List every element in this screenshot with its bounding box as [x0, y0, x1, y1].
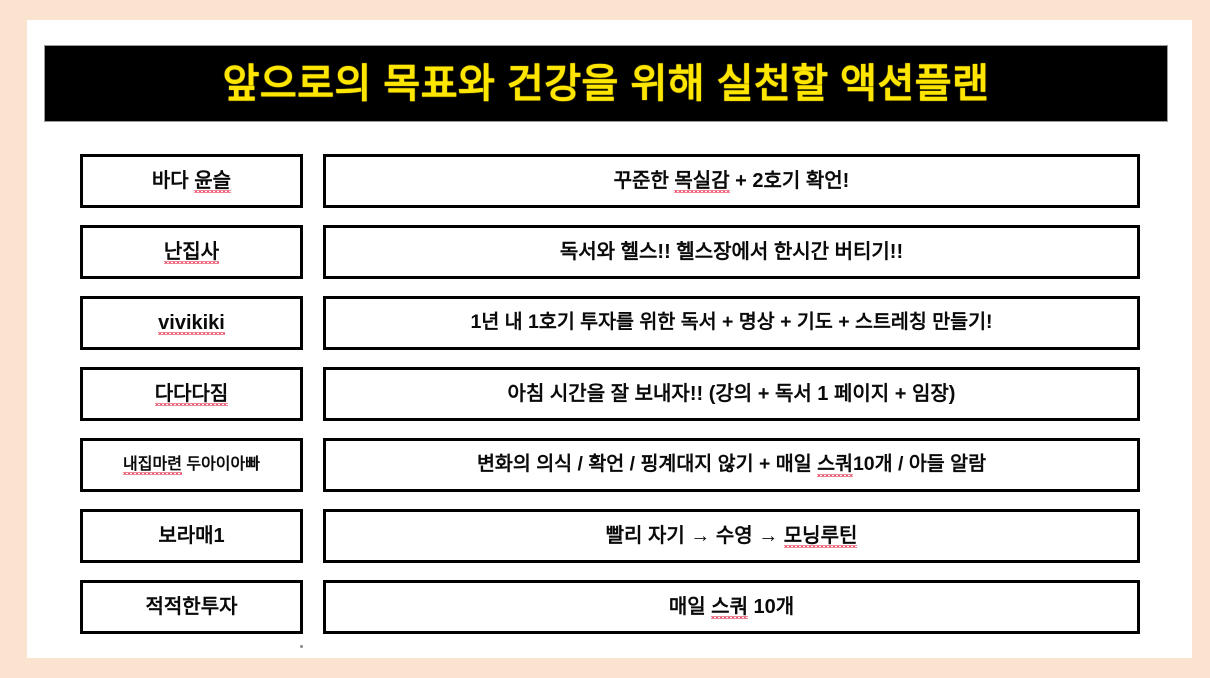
- nickname-text: 보라매1: [158, 525, 224, 547]
- nickname-text: 다다다짐: [155, 383, 229, 405]
- actionplan-cell[interactable]: 꾸준한 목실감 + 2호기 확언!: [323, 154, 1140, 208]
- actionplan-text: 꾸준한 목실감 + 2호기 확언!: [614, 170, 850, 192]
- nickname-text: 난집사: [164, 241, 219, 263]
- actionplan-cell[interactable]: 아침 시간을 잘 보내자!! (강의 + 독서 1 페이지 + 임장): [323, 367, 1140, 421]
- nickname-text: 적적한투자: [146, 596, 238, 618]
- misspelled-word: 윤슬: [194, 170, 231, 192]
- actionplan-cell[interactable]: 빨리 자기 → 수영 → 모닝루틴: [323, 509, 1140, 563]
- table-row: 바다 윤슬 꾸준한 목실감 + 2호기 확언!: [80, 154, 1140, 208]
- nickname-text: 바다 윤슬: [152, 170, 231, 192]
- actionplan-text: 독서와 헬스!! 헬스장에서 한시간 버티기!!: [560, 241, 903, 263]
- actionplan-text: 1년 내 1호기 투자를 위한 독서 + 명상 + 기도 + 스트레칭 만들기!: [470, 312, 992, 333]
- nickname-cell[interactable]: 보라매1: [80, 509, 303, 563]
- actionplan-cell[interactable]: 매일 스쿼 10개: [323, 580, 1140, 634]
- actionplan-text: 변화의 의식 / 확언 / 핑계대지 않기 + 매일 스쿼10개 / 아들 알람: [477, 454, 986, 475]
- actionplan-text: 아침 시간을 잘 보내자!! (강의 + 독서 1 페이지 + 임장): [508, 383, 956, 405]
- slide-canvas: 앞으로의 목표와 건강을 위해 실천할 액션플랜 바다 윤슬 꾸준한 목실감 +…: [27, 20, 1192, 658]
- table-row: 난집사 독서와 헬스!! 헬스장에서 한시간 버티기!!: [80, 225, 1140, 279]
- misspelled-word: 난집사: [164, 241, 219, 263]
- actionplan-text: 매일 스쿼 10개: [669, 596, 794, 618]
- action-plan-table: 바다 윤슬 꾸준한 목실감 + 2호기 확언! 난집사 독서와 헬스!! 헬스장…: [80, 154, 1140, 634]
- table-row: 보라매1 빨리 자기 → 수영 → 모닝루틴: [80, 509, 1140, 563]
- nickname-cell[interactable]: vivikiki: [80, 296, 303, 350]
- nickname-text: 내집마련 두아이아빠: [123, 456, 260, 474]
- nickname-cell[interactable]: 바다 윤슬: [80, 154, 303, 208]
- page-title: 앞으로의 목표와 건강을 위해 실천할 액션플랜: [223, 64, 990, 104]
- nickname-cell[interactable]: 적적한투자: [80, 580, 303, 634]
- misspelled-word: 내집마련: [123, 456, 182, 474]
- misspelled-word: 다다다짐: [155, 383, 229, 405]
- misspelled-word: 스쿼: [711, 596, 748, 618]
- table-row: 다다다짐 아침 시간을 잘 보내자!! (강의 + 독서 1 페이지 + 임장): [80, 367, 1140, 421]
- actionplan-text: 빨리 자기 → 수영 → 모닝루틴: [606, 525, 858, 547]
- actionplan-cell[interactable]: 1년 내 1호기 투자를 위한 독서 + 명상 + 기도 + 스트레칭 만들기!: [323, 296, 1140, 350]
- nickname-cell[interactable]: 난집사: [80, 225, 303, 279]
- misspelled-word: 스쿼: [817, 454, 853, 475]
- table-row: 내집마련 두아이아빠 변화의 의식 / 확언 / 핑계대지 않기 + 매일 스쿼…: [80, 438, 1140, 492]
- nickname-cell[interactable]: 다다다짐: [80, 367, 303, 421]
- misspelled-word: 목실감: [674, 170, 729, 192]
- actionplan-cell[interactable]: 변화의 의식 / 확언 / 핑계대지 않기 + 매일 스쿼10개 / 아들 알람: [323, 438, 1140, 492]
- stray-dot: [300, 645, 303, 648]
- actionplan-cell[interactable]: 독서와 헬스!! 헬스장에서 한시간 버티기!!: [323, 225, 1140, 279]
- misspelled-word: 모닝루틴: [784, 525, 858, 547]
- nickname-text: vivikiki: [158, 312, 225, 334]
- title-banner: 앞으로의 목표와 건강을 위해 실천할 액션플랜: [45, 46, 1167, 121]
- table-row: 적적한투자 매일 스쿼 10개: [80, 580, 1140, 634]
- nickname-cell[interactable]: 내집마련 두아이아빠: [80, 438, 303, 492]
- table-row: vivikiki 1년 내 1호기 투자를 위한 독서 + 명상 + 기도 + …: [80, 296, 1140, 350]
- misspelled-word: vivikiki: [158, 312, 225, 334]
